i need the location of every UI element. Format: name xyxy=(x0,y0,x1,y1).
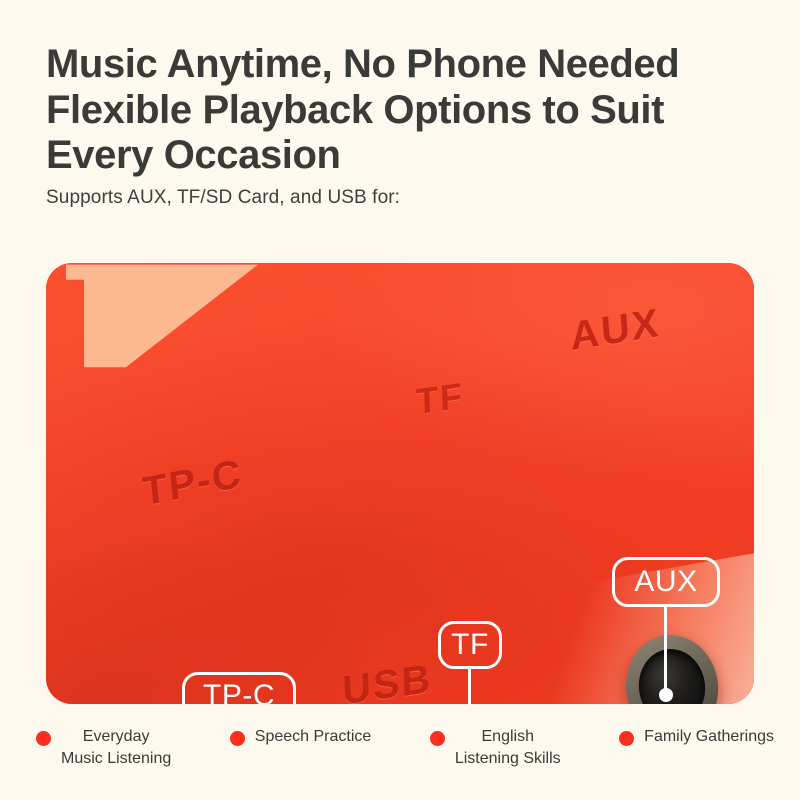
list-item: Speech Practice xyxy=(230,726,372,748)
embossed-label-tf: TF xyxy=(415,375,464,424)
bullet-dot-icon xyxy=(230,731,245,746)
bullet-dot-icon xyxy=(430,731,445,746)
callout-label-tf: TF xyxy=(438,621,502,669)
bullet-dot-icon xyxy=(619,731,634,746)
header: Music Anytime, No Phone Needed Flexible … xyxy=(46,42,776,209)
callout-label-aux: AUX xyxy=(612,557,720,607)
callout-label-tpc: TP-C xyxy=(182,672,296,704)
callout-leader-aux xyxy=(664,607,667,695)
use-case-list: Everyday Music Listening Speech Practice… xyxy=(36,726,774,770)
bullet-dot-icon xyxy=(36,731,51,746)
list-item-label: Speech Practice xyxy=(255,726,372,748)
list-item: English Listening Skills xyxy=(430,726,561,770)
product-photo-panel: TP-C TF AUX USB TP-C TF AUX USB xyxy=(46,263,754,704)
page-subtitle: Supports AUX, TF/SD Card, and USB for: xyxy=(46,187,776,209)
list-item-label: English Listening Skills xyxy=(455,726,561,770)
list-item-label: Everyday Music Listening xyxy=(61,726,171,770)
list-item: Everyday Music Listening xyxy=(36,726,171,770)
list-item-label: Family Gatherings xyxy=(644,726,774,748)
page-title: Music Anytime, No Phone Needed Flexible … xyxy=(46,42,776,179)
callout-leader-tf xyxy=(468,669,471,704)
callout-dot-aux xyxy=(659,688,673,702)
list-item: Family Gatherings xyxy=(619,726,774,748)
